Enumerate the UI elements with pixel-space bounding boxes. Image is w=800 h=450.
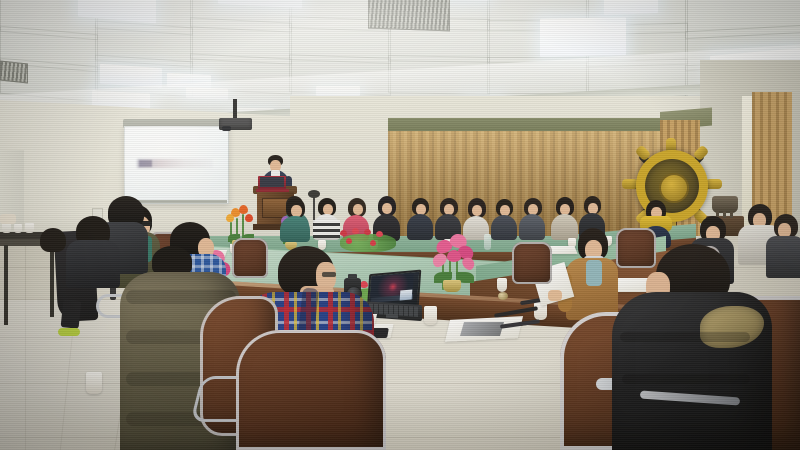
paper-cup (497, 278, 507, 292)
puffer-seam (622, 374, 750, 384)
eyeglasses-icon (322, 272, 336, 277)
green-shoe (58, 328, 80, 336)
table-grommet (498, 292, 508, 300)
puffer-seam (620, 332, 750, 342)
torso (66, 240, 120, 288)
laptop-trackpad[interactable] (386, 314, 398, 319)
document-photo (460, 322, 504, 336)
laptop-desktop-tile[interactable] (400, 289, 413, 300)
tray (0, 214, 16, 224)
hand (548, 290, 562, 301)
paper-cup (86, 372, 102, 394)
lectern-laptop-screen (260, 177, 284, 187)
striped-top (313, 220, 340, 238)
projector-lens-icon (222, 126, 231, 131)
head-hair (40, 228, 66, 252)
chair-chrome-trim (236, 330, 386, 450)
water-bottle (484, 234, 491, 250)
paper-cup (424, 306, 437, 325)
conference-room-photo: Conference room seminar photograph indoo… (0, 0, 800, 450)
inner-sweater (586, 260, 602, 286)
microphone-icon (308, 190, 320, 198)
camera-pentaprism (348, 274, 357, 279)
slide-title-blur (139, 160, 152, 167)
cup (25, 223, 34, 233)
coat-tail (61, 299, 82, 329)
vase (443, 280, 461, 292)
cup (14, 224, 22, 233)
